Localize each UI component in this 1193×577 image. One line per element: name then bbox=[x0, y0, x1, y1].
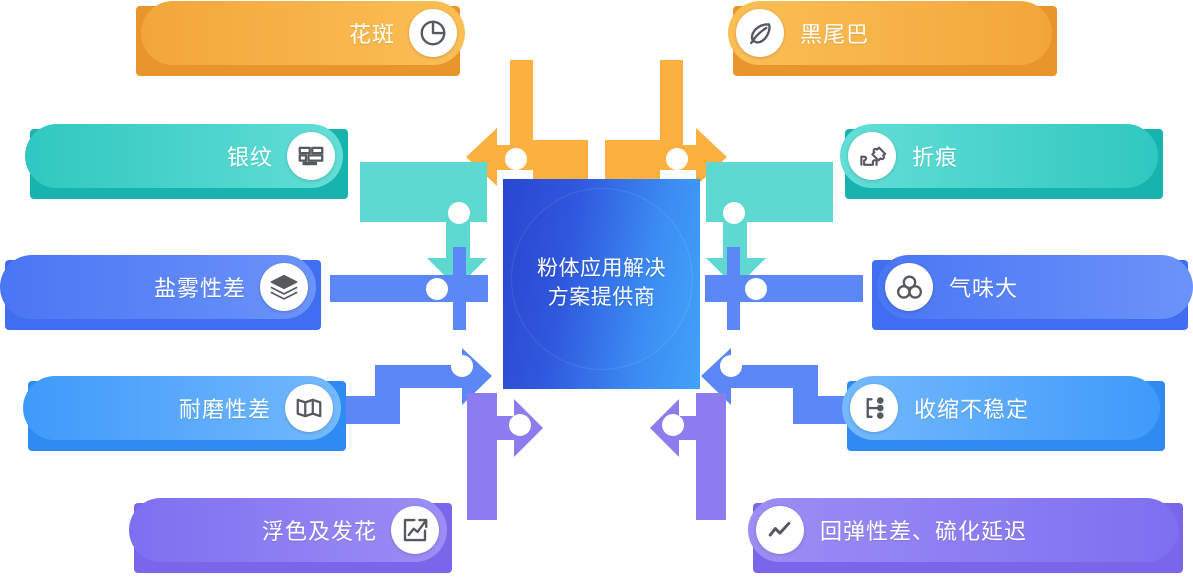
connector-n6 bbox=[705, 247, 863, 330]
brick-wall-icon bbox=[287, 132, 335, 180]
recycle-icon bbox=[885, 263, 933, 311]
center-hub[interactable]: 粉体应用解决 方案提供商 bbox=[503, 179, 700, 389]
node-n3-pill[interactable]: 银纹 bbox=[25, 124, 343, 188]
node-n2-pill[interactable]: 黑尾巴 bbox=[728, 1, 1052, 65]
node-n3-label: 银纹 bbox=[227, 140, 273, 172]
connector-n3 bbox=[360, 162, 487, 288]
puzzle-piece-icon bbox=[848, 132, 896, 180]
node-n4-pill[interactable]: 折痕 bbox=[840, 124, 1158, 188]
node-n2-label: 黑尾巴 bbox=[800, 17, 869, 49]
node-n10-pill[interactable]: 回弹性差、硫化延迟 bbox=[748, 498, 1178, 562]
leaf-icon bbox=[736, 9, 784, 57]
trend-up-chart-icon bbox=[391, 506, 439, 554]
connector-n9 bbox=[467, 393, 543, 520]
layers-icon bbox=[260, 263, 308, 311]
node-n4-label: 折痕 bbox=[912, 140, 958, 172]
node-n8-label: 收缩不稳定 bbox=[914, 392, 1029, 424]
connector-n10 bbox=[650, 393, 726, 520]
node-n8-pill[interactable]: 收缩不稳定 bbox=[842, 376, 1160, 440]
node-n1-label: 花斑 bbox=[349, 17, 395, 49]
open-book-icon bbox=[285, 384, 333, 432]
node-n7-label: 耐磨性差 bbox=[179, 392, 271, 424]
connector-n5 bbox=[330, 247, 488, 330]
node-n9-pill[interactable]: 浮色及发花 bbox=[129, 498, 447, 562]
node-n6-label: 气味大 bbox=[949, 271, 1018, 303]
node-n10-label: 回弹性差、硫化延迟 bbox=[820, 514, 1027, 546]
pie-chart-icon bbox=[409, 9, 457, 57]
sitemap-icon bbox=[850, 384, 898, 432]
node-n5-pill[interactable]: 盐雾性差 bbox=[0, 255, 316, 319]
center-label: 粉体应用解决 方案提供商 bbox=[503, 179, 700, 389]
line-chart-icon bbox=[756, 506, 804, 554]
node-n5-label: 盐雾性差 bbox=[154, 271, 246, 303]
node-n1-pill[interactable]: 花斑 bbox=[141, 1, 465, 65]
node-n7-pill[interactable]: 耐磨性差 bbox=[23, 376, 341, 440]
node-n9-label: 浮色及发花 bbox=[262, 514, 377, 546]
node-n6-pill[interactable]: 气味大 bbox=[877, 255, 1193, 319]
connector-n4 bbox=[706, 162, 833, 288]
diagram-canvas: 粉体应用解决 方案提供商 花斑 黑尾巴 bbox=[0, 0, 1193, 577]
